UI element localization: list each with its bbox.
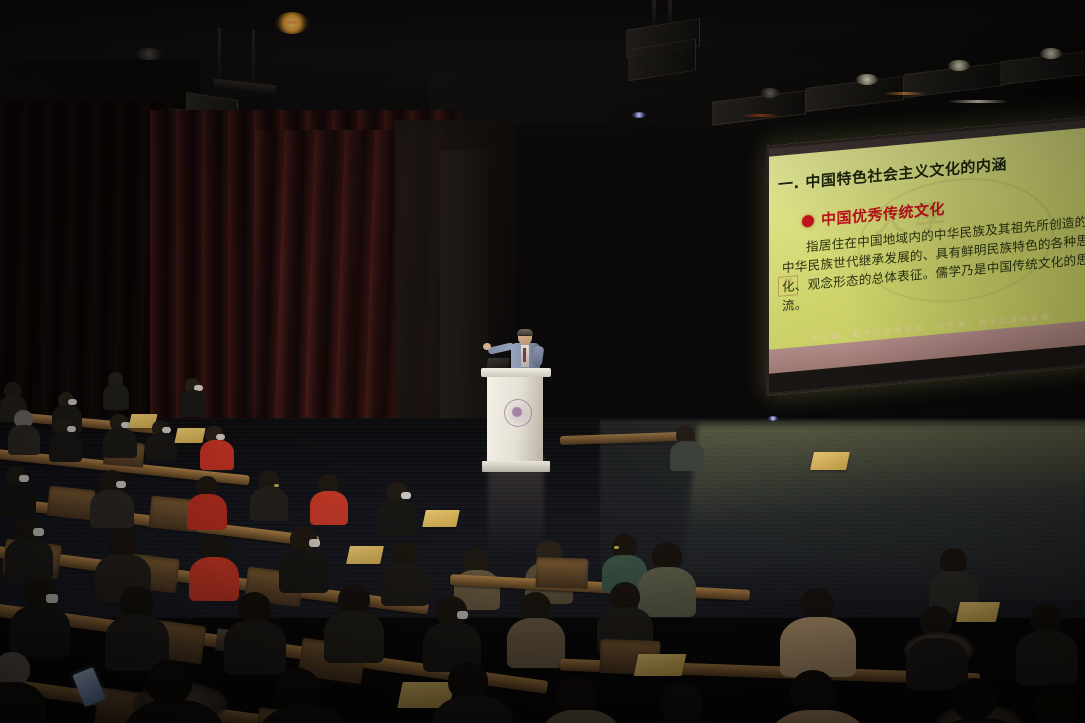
body xyxy=(0,483,36,517)
body xyxy=(1016,631,1078,685)
face-mask xyxy=(116,481,126,488)
red-jacket xyxy=(200,440,234,470)
white-stage-lamp xyxy=(948,60,970,71)
body xyxy=(8,425,40,455)
body xyxy=(324,611,384,663)
glasses-icon xyxy=(519,335,531,339)
blue-indicator-lamp xyxy=(768,416,778,421)
red-jacket xyxy=(187,494,227,530)
red-backpack xyxy=(189,557,239,601)
face-mask xyxy=(46,594,58,603)
camel-coat xyxy=(766,710,870,723)
body xyxy=(10,605,70,657)
head xyxy=(952,678,996,720)
yellow-notepad xyxy=(422,510,460,527)
head-grey-hair xyxy=(0,652,30,686)
white-stage-lamp xyxy=(1040,48,1062,59)
body xyxy=(49,432,82,462)
olive-jacket xyxy=(670,441,704,471)
yellow-notepad xyxy=(810,452,850,470)
head xyxy=(448,662,488,700)
dim-ceiling-lamp xyxy=(136,48,162,60)
head xyxy=(1034,688,1076,723)
brown-coat xyxy=(507,618,565,668)
yellow-notepad xyxy=(174,428,205,443)
head xyxy=(660,682,702,722)
head-long-hair xyxy=(108,528,138,557)
body xyxy=(642,718,728,723)
face-mask xyxy=(457,611,468,619)
face-mask xyxy=(19,475,29,482)
body xyxy=(377,500,417,536)
body xyxy=(279,549,329,593)
white-stage-lamp xyxy=(856,74,878,85)
yellow-notepad xyxy=(346,546,384,564)
camel-coat xyxy=(780,617,856,677)
truss-rod xyxy=(252,30,255,88)
body xyxy=(103,428,137,458)
dim-ceiling-lamp xyxy=(760,88,780,98)
seat-back[interactable] xyxy=(535,557,588,589)
red-work-lamp xyxy=(742,114,780,117)
body xyxy=(381,564,429,606)
face-mask xyxy=(309,539,320,547)
projection-screen: 大學 一. 中国特色社会主义文化的内涵 中国优秀传统文化 指居住在中国地域内的中… xyxy=(766,116,1085,396)
blue-indicator-lamp xyxy=(632,112,646,118)
lamp-glow xyxy=(281,21,303,24)
red-jacket xyxy=(310,491,348,525)
body xyxy=(146,433,177,461)
lamp-glow xyxy=(948,100,1008,103)
audience-seating xyxy=(0,370,1085,723)
yellow-notepad xyxy=(634,654,687,676)
presenter-right-arm xyxy=(532,345,545,366)
seat-row[interactable] xyxy=(560,432,680,445)
head xyxy=(146,660,192,704)
seat-back[interactable] xyxy=(47,486,96,521)
body xyxy=(5,538,53,580)
head xyxy=(276,668,320,710)
yellow-notepad xyxy=(956,602,1000,622)
hair-tie xyxy=(614,546,619,549)
head xyxy=(790,670,836,714)
body xyxy=(224,620,286,674)
lamp-glow xyxy=(884,92,926,95)
body xyxy=(103,384,129,410)
auditorium-scene: 大學 一. 中国特色社会主义文化的内涵 中国优秀传统文化 指居住在中国地域内的中… xyxy=(0,0,1085,723)
body xyxy=(250,487,288,521)
body xyxy=(90,490,134,528)
body xyxy=(179,390,206,417)
olive-jacket xyxy=(638,567,696,617)
head xyxy=(556,676,596,714)
screen-frame xyxy=(766,116,1085,396)
brown-coat xyxy=(539,710,623,723)
face-mask xyxy=(401,492,411,499)
face-mask xyxy=(33,528,44,536)
presenter-tie xyxy=(523,348,526,362)
